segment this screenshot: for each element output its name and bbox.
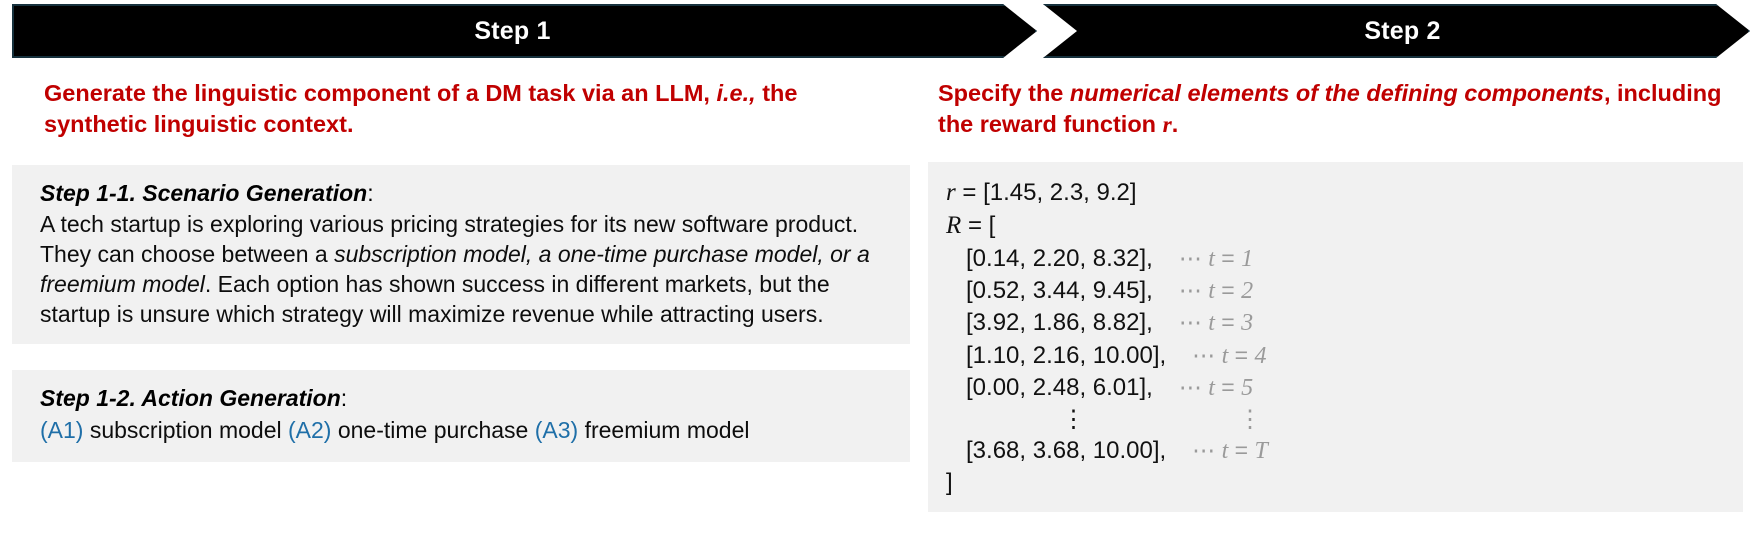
matrix-row: [3.92, 1.86, 8.82], ⋯ t = 3 — [946, 307, 1727, 339]
action-text-a3: freemium model — [585, 417, 750, 443]
reward-vector-symbol: r — [946, 179, 956, 206]
annotation-equals: = — [1215, 374, 1241, 400]
annotation-equals: = — [1215, 245, 1241, 271]
step-2-headline: Specify the numerical elements of the de… — [928, 72, 1743, 142]
scenario-generation-title-text: Step 1-1. Scenario Generation — [40, 180, 367, 206]
matrix-row-annotation: ⋯ t = T — [1192, 435, 1268, 467]
annotation-variable: t — [1208, 278, 1215, 304]
scenario-generation-panel: Step 1-1. Scenario Generation: A tech st… — [12, 165, 910, 344]
matrix-row-annotation: ⋯ t = 3 — [1179, 307, 1253, 339]
matrix-row: [1.10, 2.16, 10.00], ⋯ t = 4 — [946, 340, 1727, 372]
annotation-vertical-ellipsis: ⋮ — [1207, 409, 1293, 431]
action-text-a1: subscription model — [90, 417, 282, 443]
action-generation-title: Step 1-2. Action Generation: — [40, 384, 894, 414]
reward-matrix-open-line: R = [ — [946, 209, 1727, 243]
step-2-banner: Step 2 — [1043, 4, 1750, 58]
annotation-variable: t — [1208, 375, 1215, 401]
figure-root: Step 1 Step 2 Generate the linguistic co… — [0, 0, 1755, 541]
matrix-row: [0.52, 3.44, 9.45], ⋯ t = 2 — [946, 275, 1727, 307]
step-2-headline-italic: numerical elements of the defining compo… — [1070, 80, 1604, 106]
matrix-ellipsis-row: ⋮ ⋮ — [946, 404, 1727, 435]
annotation-index: 3 — [1241, 310, 1253, 336]
reward-matrix-close-bracket: ] — [946, 467, 953, 499]
annotation-index: 1 — [1241, 246, 1253, 272]
action-label-a1: (A1) — [40, 417, 83, 443]
matrix-row: [0.14, 2.20, 8.32], ⋯ t = 1 — [946, 243, 1727, 275]
reward-function-symbol: r — [1163, 112, 1172, 138]
action-generation-panel: Step 1-2. Action Generation: (A1) subscr… — [12, 370, 910, 462]
reward-matrix-symbol: R — [946, 212, 961, 239]
annotation-index: T — [1254, 438, 1267, 464]
matrix-row-values-text: [3.92, 1.86, 8.82], — [966, 309, 1153, 336]
matrix-row-values: [0.00, 2.48, 6.01], — [946, 372, 1153, 404]
annotation-prefix: ⋯ — [1179, 245, 1208, 271]
reward-matrix-panel: r = [1.45, 2.3, 9.2] R = [ [0.14, 2.20, … — [928, 162, 1743, 512]
reward-vector-line: r = [1.45, 2.3, 9.2] — [946, 176, 1727, 210]
matrix-row: [0.00, 2.48, 6.01], ⋯ t = 5 — [946, 372, 1727, 404]
matrix-row-annotation: ⋯ t = 1 — [1179, 243, 1253, 275]
step-1-column: Generate the linguistic component of a D… — [12, 72, 910, 462]
annotation-equals: = — [1228, 437, 1254, 463]
matrix-row-values-text: [3.68, 3.68, 10.00], — [966, 437, 1166, 464]
step-2-banner-label: Step 2 — [1364, 17, 1440, 46]
annotation-prefix: ⋯ — [1179, 277, 1208, 303]
step-1-headline-part1: Generate the linguistic component of a D… — [44, 80, 716, 106]
annotation-equals: = — [1215, 309, 1241, 335]
matrix-row-values-text: [0.14, 2.20, 8.32], — [966, 245, 1153, 272]
action-text-a2: one-time purchase — [338, 417, 529, 443]
step-1-headline-italic: i.e., — [716, 80, 755, 106]
matrix-row-last: [3.68, 3.68, 10.00], ⋯ t = T — [946, 435, 1727, 467]
action-generation-title-text: Step 1-2. Action Generation — [40, 385, 341, 411]
annotation-index: 5 — [1241, 375, 1253, 401]
step-banner-row: Step 1 Step 2 — [0, 4, 1755, 58]
action-list: (A1) subscription model (A2) one-time pu… — [40, 416, 894, 446]
matrix-row-values: [3.68, 3.68, 10.00], — [946, 435, 1166, 467]
step-1-banner: Step 1 — [12, 4, 1037, 58]
annotation-prefix: ⋯ — [1192, 342, 1221, 368]
matrix-row-values: [1.10, 2.16, 10.00], — [946, 340, 1166, 372]
annotation-equals: = — [1228, 342, 1254, 368]
reward-matrix-open-expression: R = [ — [946, 209, 995, 243]
annotation-equals: = — [1215, 277, 1241, 303]
matrix-row-values: [0.52, 3.44, 9.45], — [946, 275, 1153, 307]
matrix-row-values-text: [0.52, 3.44, 9.45], — [966, 277, 1153, 304]
matrix-vertical-ellipsis: ⋮ — [966, 409, 1181, 431]
matrix-ellipsis-annotation-wrap: ⋮ — [1207, 404, 1293, 435]
matrix-row-values: [0.14, 2.20, 8.32], — [946, 243, 1153, 275]
step-2-headline-part1: Specify the — [938, 80, 1070, 106]
step-1-headline: Generate the linguistic component of a D… — [12, 72, 910, 141]
annotation-variable: t — [1208, 246, 1215, 272]
annotation-prefix: ⋯ — [1179, 309, 1208, 335]
matrix-ellipsis-values: ⋮ — [946, 404, 1181, 436]
annotation-index: 4 — [1254, 343, 1266, 369]
annotation-prefix: ⋯ — [1179, 374, 1208, 400]
annotation-variable: t — [1208, 310, 1215, 336]
scenario-generation-text: A tech startup is exploring various pric… — [40, 210, 894, 330]
matrix-row-annotation: ⋯ t = 2 — [1179, 275, 1253, 307]
step-2-headline-part3: . — [1172, 111, 1179, 137]
annotation-index: 2 — [1241, 278, 1253, 304]
reward-vector-value: = [1.45, 2.3, 9.2] — [956, 179, 1137, 206]
matrix-row-annotation: ⋯ t = 5 — [1179, 372, 1253, 404]
step-2-column: Specify the numerical elements of the de… — [928, 72, 1743, 512]
action-label-a2: (A2) — [288, 417, 331, 443]
matrix-row-values: [3.92, 1.86, 8.82], — [946, 307, 1153, 339]
step-1-banner-label: Step 1 — [474, 17, 550, 46]
action-label-a3: (A3) — [535, 417, 578, 443]
reward-matrix-open-bracket: = [ — [961, 212, 995, 239]
matrix-row-values-text: [0.00, 2.48, 6.01], — [966, 374, 1153, 401]
matrix-row-values-text: [1.10, 2.16, 10.00], — [966, 342, 1166, 369]
reward-matrix-close-line: ] — [946, 467, 1727, 499]
scenario-generation-title: Step 1-1. Scenario Generation: — [40, 179, 894, 209]
matrix-row-annotation: ⋯ t = 4 — [1192, 340, 1266, 372]
action-generation-title-colon: : — [341, 385, 347, 411]
annotation-prefix: ⋯ — [1192, 437, 1221, 463]
reward-vector-expression: r = [1.45, 2.3, 9.2] — [946, 176, 1137, 210]
reward-math-block: r = [1.45, 2.3, 9.2] R = [ [0.14, 2.20, … — [946, 176, 1727, 500]
scenario-generation-title-colon: : — [367, 180, 373, 206]
